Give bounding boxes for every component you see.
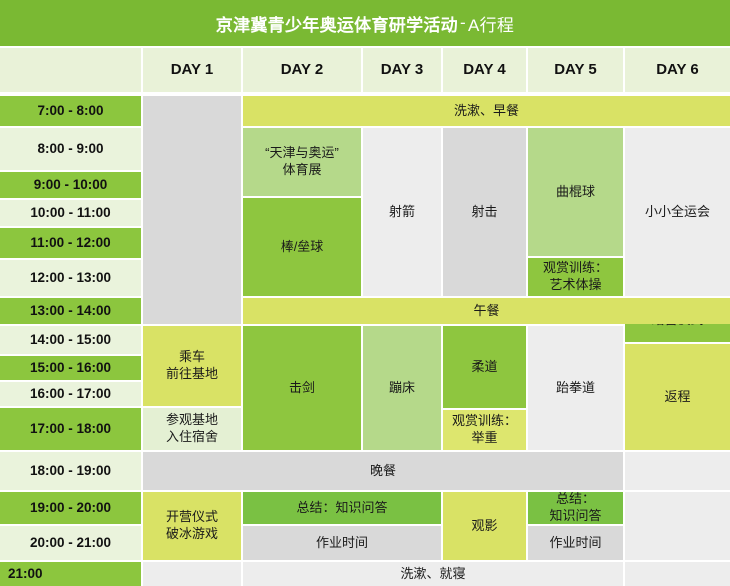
time-slot-0800: 8:00 - 9:00: [0, 128, 141, 170]
time-slot-1900: 19:00 - 20:00: [0, 492, 141, 524]
activity-dinner[interactable]: 晚餐: [143, 452, 623, 490]
activity-breakfast[interactable]: 洗漱、早餐: [243, 96, 730, 126]
title-sub-text: A行程: [468, 11, 514, 36]
day1-morning-blank: [143, 96, 241, 324]
activity-day2-exhibition-line2: 体育展: [265, 162, 339, 179]
activity-day4-shooting[interactable]: 射击: [443, 128, 526, 296]
day6-night-blank: [625, 492, 730, 560]
activity-day5-homework[interactable]: 作业时间: [528, 526, 623, 560]
time-slot-1300: 13:00 - 14:00: [0, 298, 141, 324]
day6-evening-blank: [625, 452, 730, 490]
day1-night-blank: [143, 562, 241, 586]
activity-day1-visit-line2: 入住宿舍: [166, 429, 218, 446]
time-slot-1700: 17:00 - 18:00: [0, 408, 141, 450]
column-header-day-1: DAY 1: [143, 48, 241, 92]
activity-day2-exhibition-line1: “天津与奥运”: [265, 145, 339, 162]
title-main-text: 京津冀青少年奥运体育研学活动: [216, 11, 458, 36]
column-header-day-2: DAY 2: [243, 48, 361, 92]
activity-day6-return[interactable]: 返程: [625, 344, 730, 450]
activity-lunch[interactable]: 午餐: [243, 298, 730, 324]
time-slot-1500: 15:00 - 16:00: [0, 356, 141, 380]
activity-day1-opening[interactable]: 开营仪式 破冰游戏: [143, 492, 241, 560]
activity-day4-movie[interactable]: 观影: [443, 492, 526, 560]
column-header-day-3: DAY 3: [363, 48, 441, 92]
activity-day4-watch-weightlifting[interactable]: 观赏训练： 举重: [443, 410, 526, 450]
activity-day5-summary-line1: 总结：: [549, 492, 601, 508]
time-slot-1600: 16:00 - 17:00: [0, 382, 141, 406]
activity-day1-opening-line2: 破冰游戏: [166, 526, 218, 543]
activity-day6-mini-games[interactable]: 小小全运会: [625, 128, 730, 296]
activity-day1-opening-line1: 开营仪式: [166, 509, 218, 526]
activity-day2-fencing[interactable]: 击剑: [243, 326, 361, 450]
time-slot-1400: 14:00 - 15:00: [0, 326, 141, 354]
activity-day5-hockey[interactable]: 曲棍球: [528, 128, 623, 256]
activity-day5-summary-line2: 知识问答: [549, 508, 601, 524]
activity-day2-baseball[interactable]: 棒/垒球: [243, 198, 361, 296]
time-slot-0900: 9:00 - 10:00: [0, 172, 141, 198]
activity-day1-bus-line1: 乘车: [166, 349, 218, 366]
time-slot-0700: 7:00 - 8:00: [0, 96, 141, 126]
activity-day4-watch-line2: 举重: [452, 430, 517, 447]
activity-day4-watch-line1: 观赏训练：: [452, 413, 517, 430]
schedule-page: 京津冀青少年奥运体育研学活动 - A行程 DAY 1 DAY 2 DAY 3 D…: [0, 0, 730, 586]
time-slot-2100: 21:00: [0, 562, 141, 586]
activity-day2-homework[interactable]: 作业时间: [243, 526, 441, 560]
activity-day3-archery[interactable]: 射箭: [363, 128, 441, 296]
activity-day5-watch-line1: 观赏训练：: [543, 260, 608, 277]
schedule-grid: DAY 1 DAY 2 DAY 3 DAY 4 DAY 5 DAY 6 7:00…: [0, 46, 730, 586]
time-slot-1800: 18:00 - 19:00: [0, 452, 141, 490]
column-header-day-5: DAY 5: [528, 48, 623, 92]
time-slot-1200: 12:00 - 13:00: [0, 260, 141, 296]
activity-day5-watch-gymnastics[interactable]: 观赏训练： 艺术体操: [528, 258, 623, 296]
activity-day1-bus-line2: 前往基地: [166, 366, 218, 383]
title-separator: -: [460, 13, 466, 33]
activity-day5-watch-line2: 艺术体操: [543, 277, 608, 294]
time-slot-1000: 10:00 - 11:00: [0, 200, 141, 226]
page-title: 京津冀青少年奥运体育研学活动 - A行程: [0, 0, 730, 46]
activity-day2-exhibition[interactable]: “天津与奥运” 体育展: [243, 128, 361, 196]
activity-day1-visit-line1: 参观基地: [166, 412, 218, 429]
activity-day3-trampoline[interactable]: 蹦床: [363, 326, 441, 450]
time-slot-1100: 11:00 - 12:00: [0, 228, 141, 258]
activity-day1-bus[interactable]: 乘车 前往基地: [143, 326, 241, 406]
activity-day4-judo[interactable]: 柔道: [443, 326, 526, 408]
grid-corner-cell: [0, 48, 141, 92]
activity-day5-taekwondo[interactable]: 跆拳道: [528, 326, 623, 450]
column-header-day-4: DAY 4: [443, 48, 526, 92]
activity-day5-summary[interactable]: 总结： 知识问答: [528, 492, 623, 524]
day6-late-blank: [625, 562, 730, 586]
column-header-day-6: DAY 6: [625, 48, 730, 92]
activity-day1-visit-base[interactable]: 参观基地 入住宿舍: [143, 408, 241, 450]
activity-day2-summary[interactable]: 总结：知识问答: [243, 492, 441, 524]
time-slot-2000: 20:00 - 21:00: [0, 526, 141, 560]
activity-bedtime[interactable]: 洗漱、就寝: [243, 562, 623, 586]
